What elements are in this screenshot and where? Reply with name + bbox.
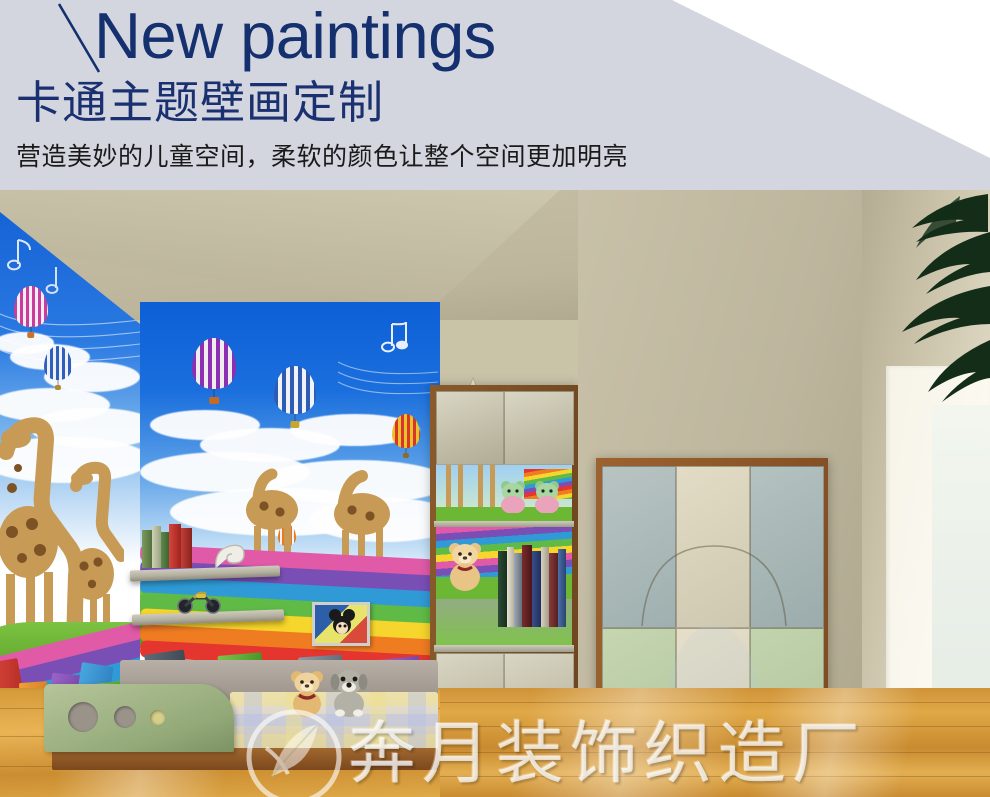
balloon-blue-right [274, 366, 316, 428]
motorcycle-model [176, 586, 222, 614]
window-glass [932, 405, 990, 735]
plush-pair-green [532, 479, 562, 513]
headboard-hole [68, 702, 98, 732]
cabinet-door-top-left[interactable] [436, 391, 504, 465]
plush-dog-grey [326, 666, 372, 718]
bed-headboard [44, 684, 234, 752]
music-staff [338, 354, 438, 404]
cabinet-book [498, 551, 507, 627]
page-root: New paintings 卡通主题壁画定制 营造美妙的儿童空间，柔软的颜色让整… [0, 0, 990, 797]
palm-plant [860, 190, 990, 440]
shelf-book [142, 530, 152, 568]
page-title-chinese: 卡通主题壁画定制 [16, 78, 384, 128]
swan-ornament [212, 536, 248, 570]
cabinet-open-shelf-upper [436, 465, 572, 523]
giraffe-leg [458, 465, 463, 509]
header-banner: New paintings 卡通主题壁画定制 营造美妙的儿童空间，柔软的颜色让整… [0, 0, 990, 190]
mickey-mouse-picture-frame [312, 602, 370, 646]
balloon-yellow-red [392, 414, 420, 458]
page-subtitle: 营造美妙的儿童空间，柔软的颜色让整个空间更加明亮 [16, 142, 628, 172]
giraffe-leg [478, 465, 483, 509]
giraffe-leg [446, 465, 451, 509]
cabinet-book [549, 553, 558, 627]
headboard-hole [114, 706, 136, 728]
cabinet-book [507, 547, 514, 627]
cabinet-door-top-right[interactable] [504, 391, 574, 465]
cabinet-book [532, 551, 541, 627]
teddy-bear-tan [286, 668, 330, 718]
shelf-book [152, 526, 161, 568]
cabinet-open-shelf-lower [436, 527, 572, 647]
childrens-bed[interactable] [18, 660, 438, 788]
page-title: New paintings [94, 0, 496, 74]
cabinet-book [541, 547, 549, 627]
cabinet-shelf-board [434, 645, 574, 652]
headboard-hole [150, 710, 165, 725]
balloon-pink [14, 286, 48, 338]
cabinet-book [522, 545, 532, 627]
cabinet-book [558, 549, 566, 627]
plush-pair-green [498, 479, 528, 513]
balloon-purple [192, 338, 236, 404]
cabinet-book [514, 553, 522, 627]
giraffe-leg [490, 465, 495, 509]
room-photo: 奔月装饰织造厂 [0, 190, 990, 797]
shelf-book [169, 524, 181, 568]
shelf-book [181, 528, 192, 568]
teddy-bear-beige [444, 539, 490, 591]
shelf-book [161, 532, 169, 568]
balloon-blue-left [44, 346, 72, 390]
